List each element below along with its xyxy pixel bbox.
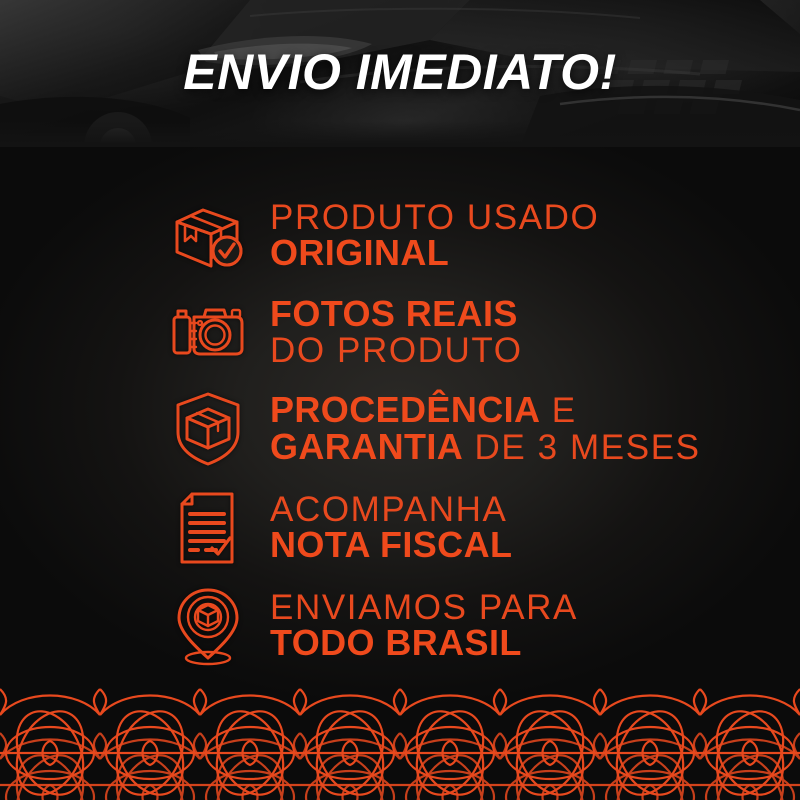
feature-line-1-light: E — [540, 391, 576, 430]
shield-box-icon — [160, 384, 256, 474]
page-title: ENVIO IMEDIATO! — [0, 43, 800, 101]
feature-line-2: ORIGINAL — [270, 235, 599, 272]
feature-line-2: DO PRODUTO — [270, 333, 523, 369]
feature-line-2-bold: GARANTIA — [270, 426, 463, 467]
header-section: ENVIO IMEDIATO! — [0, 0, 800, 147]
feature-text-procedencia-garantia: PROCEDÊNCIA E GARANTIA DE 3 MESES — [270, 392, 701, 465]
feature-line-1-bold: PROCEDÊNCIA — [270, 389, 540, 430]
feature-row-todo-brasil: ENVIAMOS PARA TODO BRASIL — [160, 580, 578, 672]
feature-text-fotos-reais: FOTOS REAIS DO PRODUTO — [270, 296, 523, 368]
feature-line-1: FOTOS REAIS — [270, 296, 523, 333]
feature-line-1: ENVIAMOS PARA — [270, 590, 578, 626]
box-check-icon — [160, 191, 256, 281]
header-fade-overlay — [0, 121, 800, 147]
promotional-banner: ENVIO IMEDIATO! PRODUTO USADO — [0, 0, 800, 800]
feature-line-2: TODO BRASIL — [270, 625, 578, 662]
feature-line-2: GARANTIA DE 3 MESES — [270, 429, 701, 466]
feature-row-produto-usado: PRODUTO USADO ORIGINAL — [160, 190, 599, 282]
feature-line-2: NOTA FISCAL — [270, 527, 512, 564]
feature-row-nota-fiscal: ACOMPANHA NOTA FISCAL — [160, 482, 512, 574]
feature-row-procedencia-garantia: PROCEDÊNCIA E GARANTIA DE 3 MESES — [160, 383, 701, 475]
feature-line-1: ACOMPANHA — [270, 492, 512, 528]
feature-text-nota-fiscal: ACOMPANHA NOTA FISCAL — [270, 492, 512, 564]
location-pin-box-icon — [160, 581, 256, 671]
footer-ornament-pattern — [0, 685, 800, 800]
feature-text-produto-usado: PRODUTO USADO ORIGINAL — [270, 200, 599, 272]
feature-row-fotos-reais: FOTOS REAIS DO PRODUTO — [160, 286, 523, 378]
document-check-icon — [160, 483, 256, 573]
camera-icon — [160, 287, 256, 377]
feature-line-1: PRODUTO USADO — [270, 200, 599, 236]
feature-line-2-light: DE 3 MESES — [463, 428, 700, 467]
feature-line-1: PROCEDÊNCIA E — [270, 392, 701, 429]
feature-text-todo-brasil: ENVIAMOS PARA TODO BRASIL — [270, 590, 578, 662]
